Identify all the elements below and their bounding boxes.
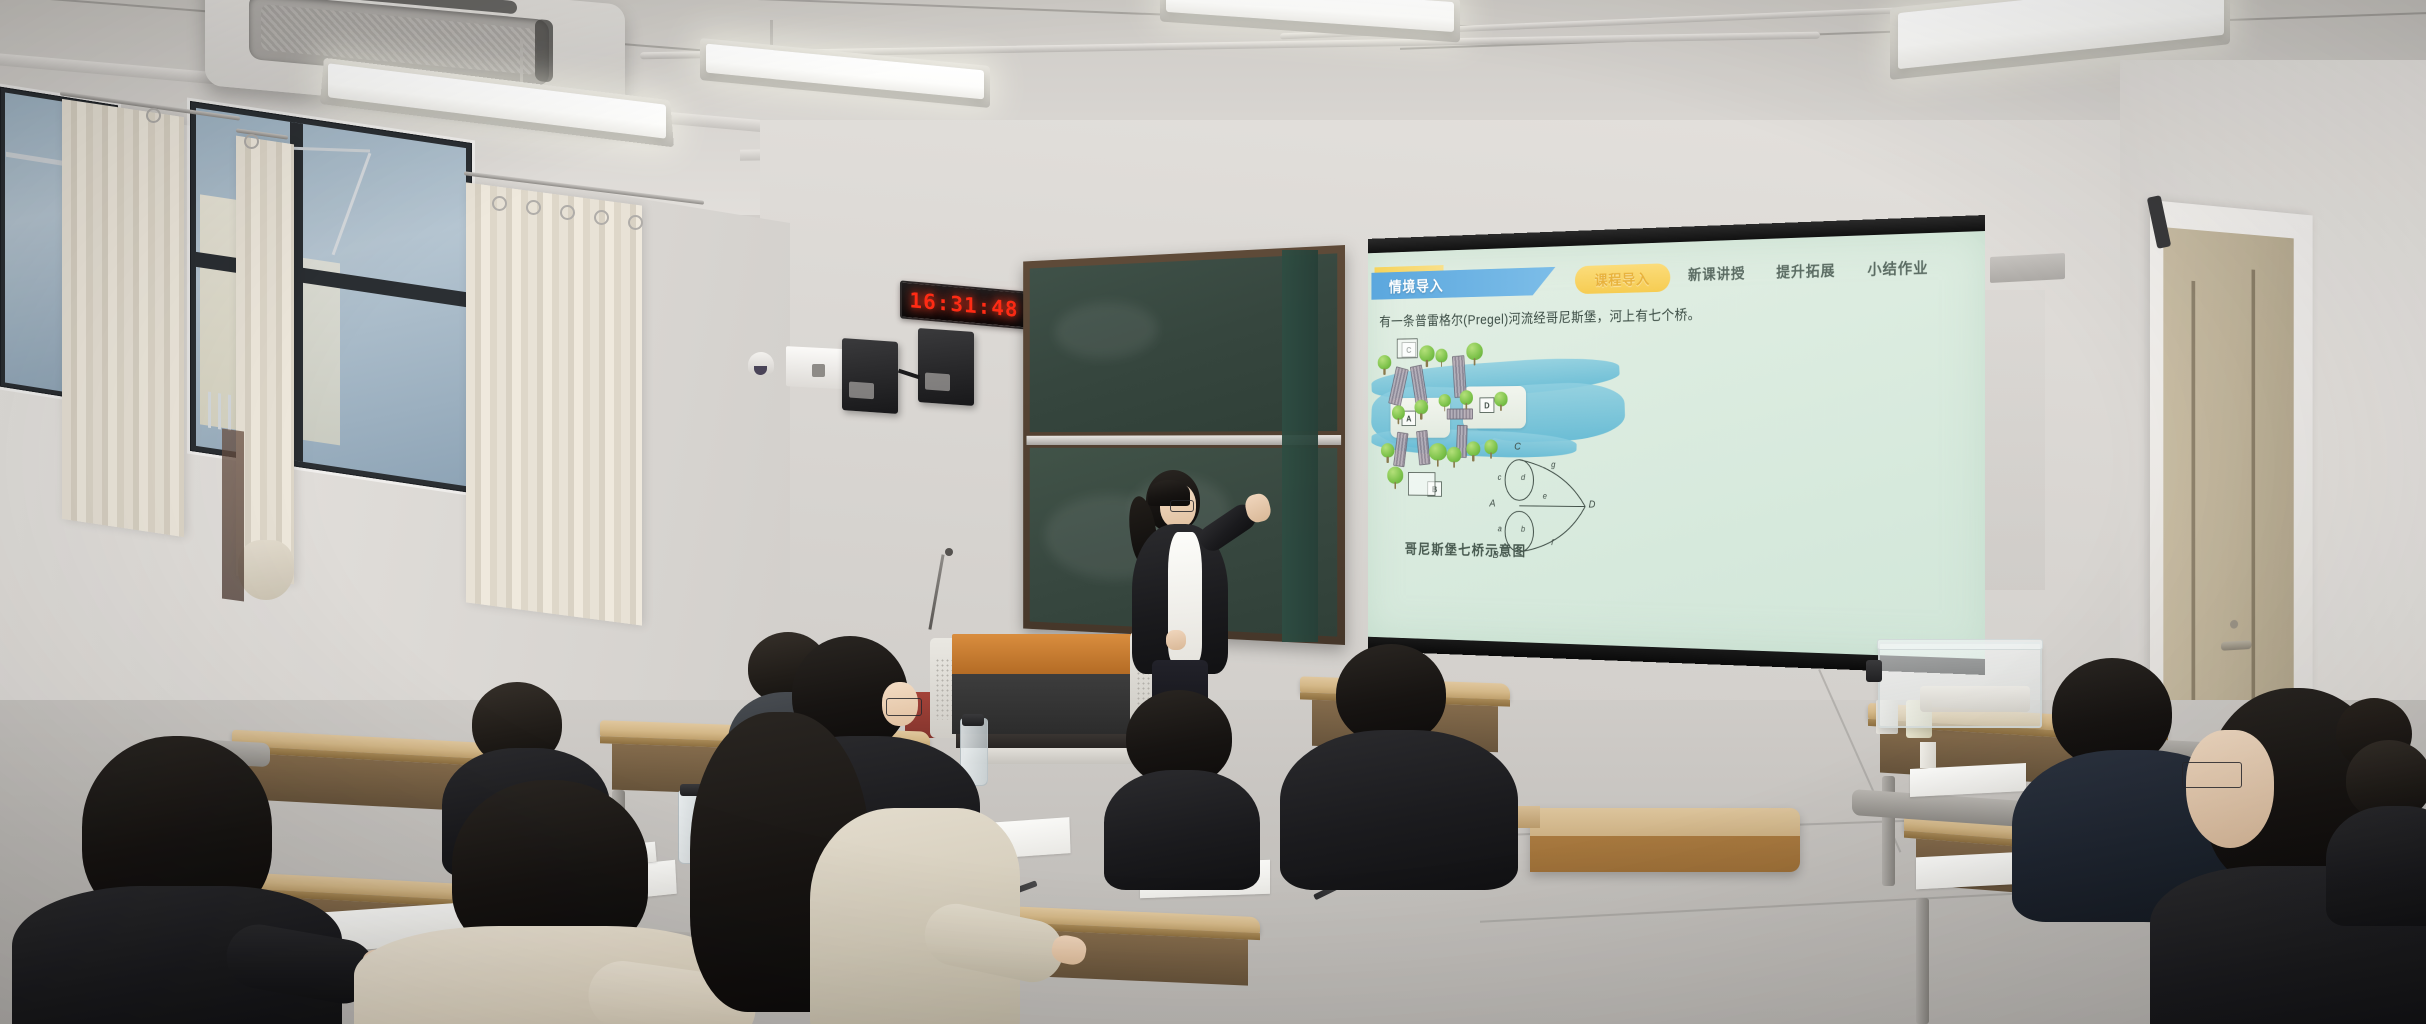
teacher (1118, 470, 1258, 720)
slide-nav-active-label: 课程导入 (1595, 268, 1650, 289)
graph-node-D: D (1589, 499, 1596, 510)
curtain-ring (560, 205, 575, 220)
wall-panel (1985, 290, 2045, 590)
building-sketch-top (1397, 338, 1418, 358)
student-jacket (1104, 770, 1260, 890)
teacher-glasses (1170, 500, 1194, 512)
slide-content: 情境导入 课程导入 新课讲授 提升拓展 小结作业 有一条普雷格尔(Pregel)… (1368, 231, 1985, 659)
clock-time-text: 16:31:48 (909, 288, 1018, 322)
student-back-right (2336, 740, 2426, 890)
graph-edge-d: d (1521, 473, 1525, 482)
slide-nav-active-pill[interactable]: 课程导入 (1575, 263, 1670, 294)
graph-node-C: C (1514, 441, 1521, 452)
graph-edge-f: f (1551, 538, 1553, 547)
teaching-platform (1530, 808, 1800, 872)
graph-node-A: A (1489, 498, 1495, 509)
teacher-lower-hand (1166, 630, 1186, 650)
curtain-ring (594, 210, 609, 225)
wall-box-port-icon (812, 364, 825, 377)
student-center-beige (624, 712, 964, 1024)
lamp-hanger (520, 40, 523, 88)
student-near-podium (1120, 690, 1240, 850)
graph-edge-e: e (1543, 491, 1547, 500)
lectern-wood-top (952, 634, 1142, 676)
curtain-bunch (238, 540, 294, 600)
graph-edge-c: c (1498, 473, 1502, 482)
slide-nav-banner-label: 情境导入 (1389, 273, 1444, 296)
blackboard-side-strip (1282, 250, 1318, 642)
slide-body-text: 有一条普雷格尔(Pregel)河流经哥尼斯堡，河上有七个桥。 (1379, 304, 1701, 331)
graph-edge-g: g (1551, 460, 1555, 469)
curtain-middle[interactable] (236, 136, 294, 585)
speaker-right (918, 328, 974, 406)
student-glasses (2182, 762, 2242, 788)
student-jacket (1280, 730, 1518, 890)
student-hair (1336, 644, 1446, 744)
building-sketch-bottom (1408, 472, 1435, 496)
speaker-left (842, 338, 898, 414)
slide-nav-item-3[interactable]: 小结作业 (1867, 257, 1928, 280)
curtain-ring (492, 196, 507, 211)
wall-vent (1990, 253, 2065, 283)
slide-nav-item-1[interactable]: 新课讲授 (1688, 263, 1745, 285)
island-label-D: D (1479, 397, 1494, 413)
door-lock-icon (2230, 620, 2238, 629)
student-mid-black (1288, 644, 1508, 874)
student-jacket (2326, 806, 2426, 926)
curtain-ring (628, 215, 643, 230)
projection-screen: 情境导入 课程导入 新课讲授 提升拓展 小结作业 有一条普雷格尔(Pregel)… (1368, 215, 1985, 675)
curtain-ring (146, 108, 161, 123)
bottle-cap (962, 714, 984, 726)
slide-nav-row: 情境导入 课程导入 新课讲授 提升拓展 小结作业 (1368, 245, 1985, 300)
desk-leg (1916, 898, 1929, 1024)
slide-nav-item-2[interactable]: 提升拓展 (1776, 260, 1835, 282)
door-handle[interactable] (2221, 640, 2252, 651)
curtain-right[interactable] (466, 182, 642, 625)
student-front-left (30, 736, 320, 1024)
curtain-ring (244, 134, 259, 149)
student-face (2186, 730, 2274, 848)
curtain-dark-fold (222, 428, 244, 601)
small-item-on-desk[interactable] (1920, 742, 1936, 768)
graph-edge-b: b (1521, 524, 1525, 533)
classroom-photo: 16:31:48 情境导入 课程导入 (0, 0, 2426, 1024)
curtain-ring (526, 200, 541, 215)
illustration-caption: 哥尼斯堡七桥示意图 (1405, 539, 1527, 561)
graph-edge-a: a (1498, 524, 1502, 533)
curtain-left[interactable] (62, 99, 184, 537)
koenigsberg-illustration: A D B C (1376, 330, 1625, 565)
microphone-head-icon (945, 548, 953, 556)
bin-contents (1920, 686, 2030, 712)
bin-clip-icon (1866, 660, 1882, 682)
